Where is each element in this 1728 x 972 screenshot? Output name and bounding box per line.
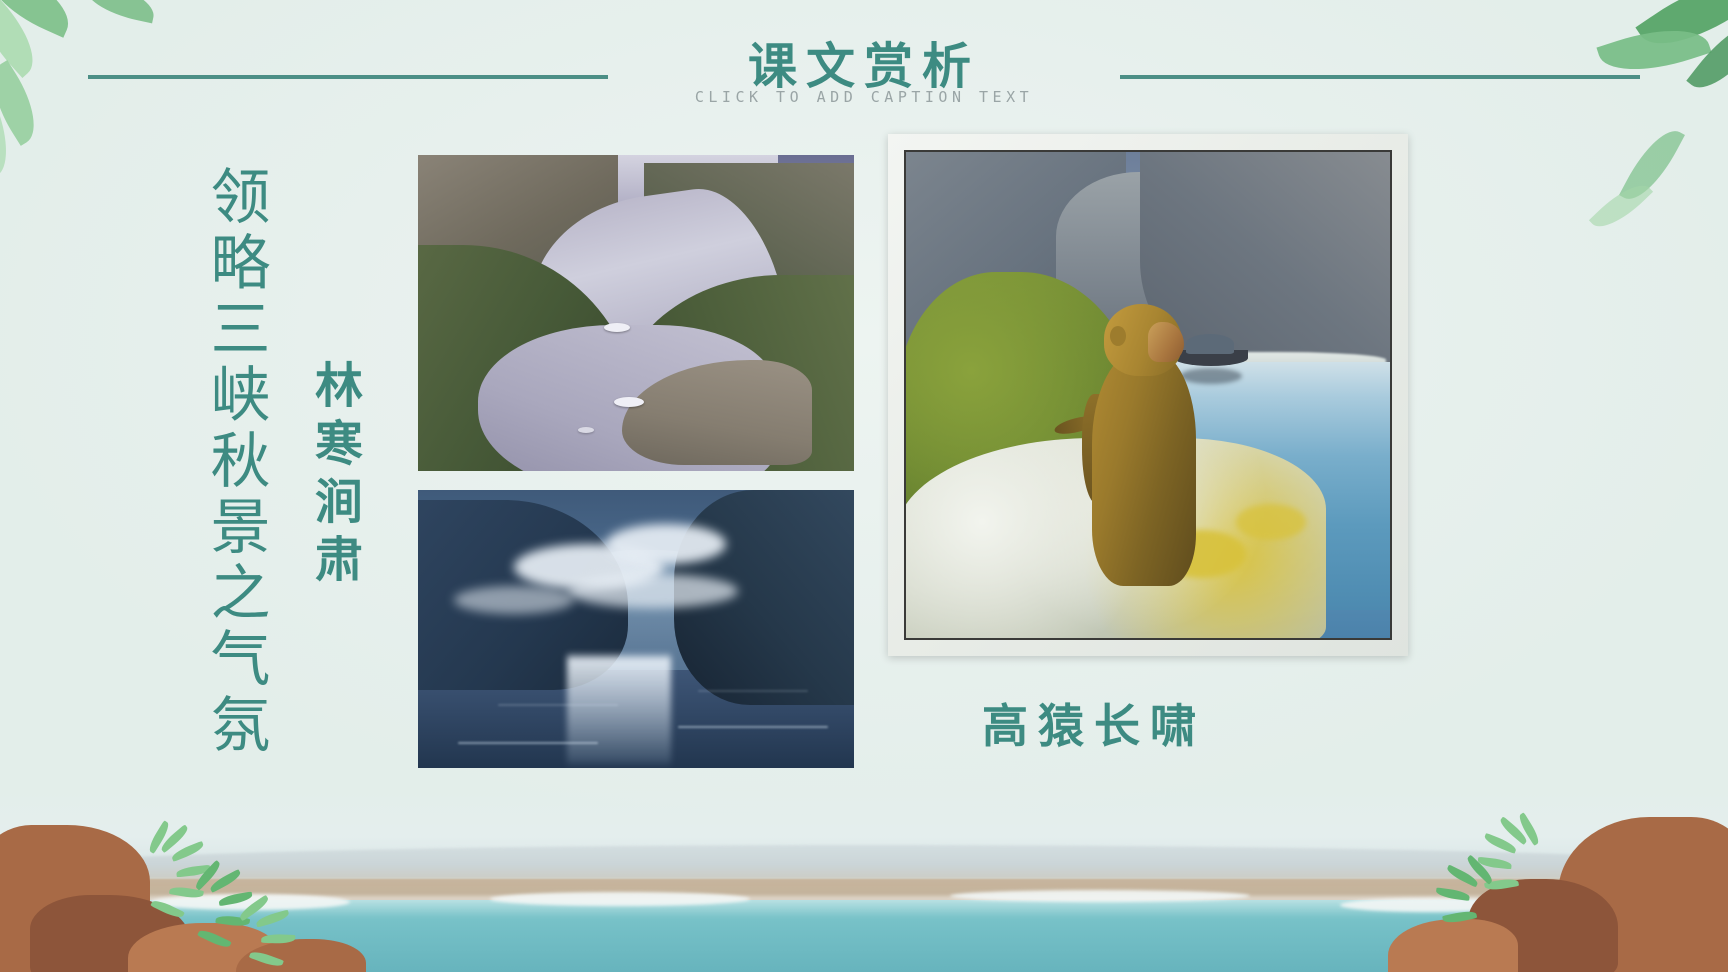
slide-header: 课文赏析 CLICK TO ADD CAPTION TEXT xyxy=(0,0,1728,132)
leaf-cluster-right xyxy=(1552,150,1702,280)
title-rule-left xyxy=(88,75,608,79)
monkey-head xyxy=(1104,304,1182,376)
photo-ripple xyxy=(678,726,828,728)
photo-monkey xyxy=(1082,298,1204,588)
bottom-scenery xyxy=(0,787,1728,972)
slide-canvas: 课文赏析 CLICK TO ADD CAPTION TEXT 领略三峡秋景之气氛… xyxy=(0,0,1728,972)
photo-misty-gorge[interactable] xyxy=(418,490,854,768)
vertical-caption-sub: 林寒涧肃 xyxy=(310,360,358,592)
photo-frame-monkey[interactable] xyxy=(888,134,1408,656)
photo-cloud xyxy=(606,524,726,564)
photo-ripple xyxy=(458,742,598,744)
monkey-body xyxy=(1092,350,1196,586)
photo-boat xyxy=(604,323,630,332)
foam-patch xyxy=(490,892,750,906)
page-subtitle: CLICK TO ADD CAPTION TEXT xyxy=(695,88,1033,106)
vertical-caption-main: 领略三峡秋景之气氛 xyxy=(205,165,265,759)
photo-backdrop xyxy=(418,155,854,471)
photo-cloud xyxy=(454,586,574,614)
photo-sun-glint xyxy=(567,656,671,764)
photo-backdrop xyxy=(418,490,854,768)
foam-patch xyxy=(950,890,1250,902)
photo-river-gorge-aerial[interactable] xyxy=(418,155,854,471)
photo-cloud xyxy=(568,574,738,608)
photo-frame-inner xyxy=(904,150,1392,640)
photo-lichen xyxy=(1236,504,1306,540)
photo-boat xyxy=(614,397,644,407)
caption-bottom: 高猿长啸 xyxy=(982,690,1206,756)
monkey-ear xyxy=(1110,326,1126,346)
title-rule-right xyxy=(1120,75,1640,79)
photo-backdrop xyxy=(906,152,1390,638)
photo-ripple xyxy=(498,704,618,706)
photo-ripple xyxy=(698,690,808,692)
monkey-face xyxy=(1148,322,1184,362)
photo-boat xyxy=(578,427,594,433)
